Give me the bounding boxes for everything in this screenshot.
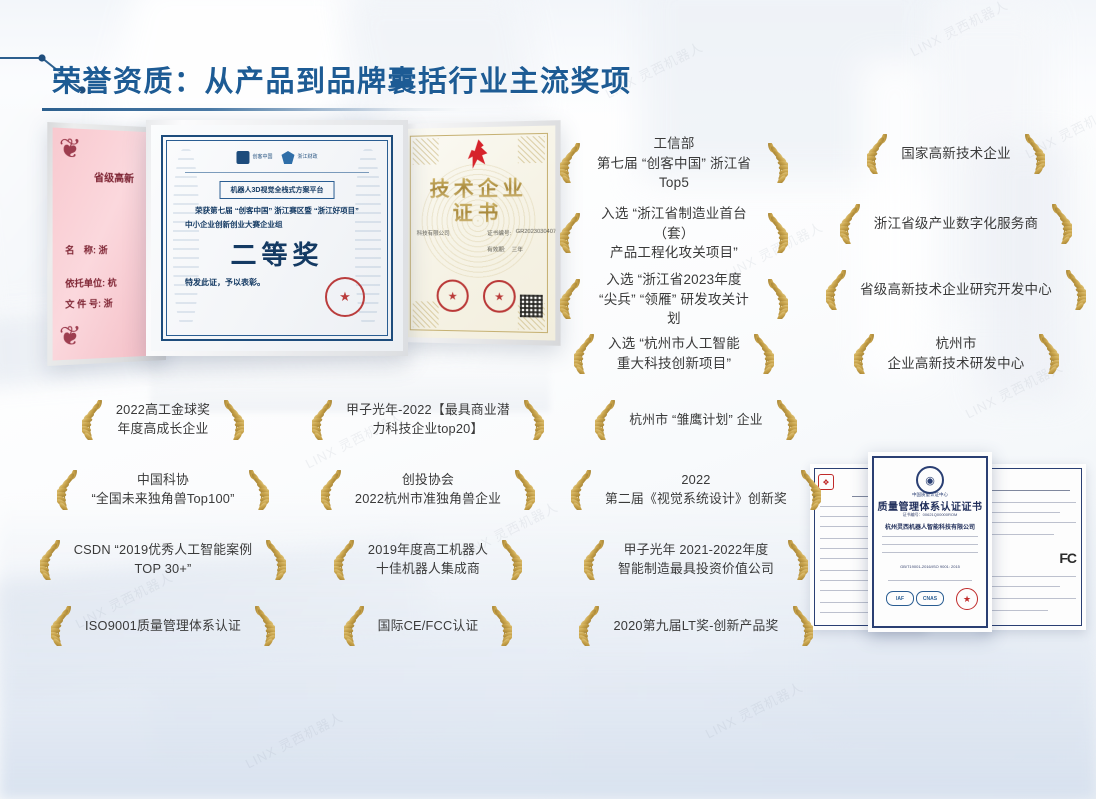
blue-cert-logo-2: 浙江财政 — [298, 155, 318, 161]
laurel-wreath-icon — [321, 470, 347, 510]
page-header: 荣誉资质：从产品到品牌囊括行业主流奖项 — [0, 22, 700, 100]
award-label: 2020第九届LT奖-创新产品奖 — [605, 617, 786, 636]
award-badge: 2022 第二届《视觉系统设计》创新奖 — [562, 470, 830, 510]
award-badge: 杭州市 “雏鹰计划” 企业 — [562, 400, 830, 440]
award-badge: 入选 “浙江省制造业首台（套） 产品工程化攻关项目” — [560, 204, 788, 263]
laurel-wreath-icon — [574, 334, 600, 374]
award-label: 国际CE/FCC认证 — [370, 617, 487, 636]
laurel-wreath-icon — [771, 400, 797, 440]
award-badge: 入选 “杭州市人工智能 重大科技创新项目” — [560, 334, 788, 374]
award-label: 国家高新技术企业 — [893, 144, 1019, 164]
laurel-wreath-icon — [762, 213, 788, 253]
award-label: 甲子光年 2021-2022年度 智能制造最具投资价值公司 — [610, 541, 782, 578]
pink-plaque-line-2: 依托单位: 杭 — [65, 276, 117, 290]
laurel-wreath-icon — [334, 540, 360, 580]
award-label: 杭州市 企业高新技术研发中心 — [880, 334, 1033, 373]
award-badge: 创投协会 2022杭州市准独角兽企业 — [294, 470, 562, 510]
laurel-wreath-icon — [243, 470, 269, 510]
laurel-wreath-icon — [795, 470, 821, 510]
laurel-wreath-icon — [787, 606, 813, 646]
laurel-wreath-icon — [518, 400, 544, 440]
certificate-award-blue: 创客中国 浙江财政 机器人3D视觉全栈式方案平台 荣获第七届 “创客中国” 浙江… — [146, 120, 408, 356]
gold-cert-no-value: GR202303040794 — [516, 229, 556, 235]
certificate-tech-enterprise-gold: 技术企业 证书 科技有限公司 证书编号: GR202303040794 有效期:… — [398, 120, 561, 346]
laurel-wreath-icon — [867, 134, 893, 174]
watermark: LINX 灵西机器人 — [242, 707, 346, 773]
laurel-wreath-icon — [40, 540, 66, 580]
award-label: 2022 第二届《视觉系统设计》创新奖 — [597, 471, 795, 508]
blue-cert-line-2: 中小企业创新创业大赛企业组 — [185, 219, 283, 230]
gold-cert-no-label: 证书编号: — [487, 229, 511, 237]
laurel-wreath-icon — [762, 143, 788, 183]
laurel-wreath-icon — [1046, 204, 1072, 244]
laurel-wreath-icon — [560, 279, 586, 319]
laurel-wreath-icon — [51, 606, 77, 646]
award-label: 浙江省级产业数字化服务商 — [866, 214, 1046, 234]
award-badge: 入选 “浙江省2023年度 “尖兵” “领雁” 研发攻关计划 — [560, 270, 788, 329]
laurel-wreath-icon — [1060, 270, 1086, 310]
gold-cert-validity-label: 有效期: — [487, 245, 505, 253]
laurel-wreath-icon — [782, 540, 808, 580]
award-badge: 浙江省级产业数字化服务商 — [822, 204, 1090, 244]
award-label: 入选 “杭州市人工智能 重大科技创新项目” — [600, 334, 748, 373]
laurel-wreath-icon — [496, 540, 522, 580]
laurel-wreath-icon — [840, 204, 866, 244]
award-label: CSDN “2019优秀人工智能案例 TOP 30+” — [66, 541, 261, 578]
award-label: 杭州市 “雏鹰计划” 企业 — [621, 411, 770, 430]
award-badge: 2020第九届LT奖-创新产品奖 — [562, 606, 830, 646]
red-official-seal-icon: ★ — [325, 277, 365, 317]
red-seal-left-icon: ★ — [437, 279, 469, 312]
award-badge: 国际CE/FCC认证 — [294, 606, 562, 646]
laurel-wreath-icon — [486, 606, 512, 646]
laurel-wreath-icon — [560, 143, 586, 183]
laurel-wreath-icon — [762, 279, 788, 319]
award-badge: 杭州市 企业高新技术研发中心 — [822, 334, 1090, 374]
page-title: 荣誉资质：从产品到品牌囊括行业主流奖项 — [52, 58, 632, 100]
awards-grid-bottom: 2022高工金球奖 年度高成长企业甲子光年-2022【最具商业潜 力科技企业to… — [12, 392, 1092, 654]
laurel-wreath-icon — [595, 400, 621, 440]
blue-cert-line-1: 荣获第七届 “创客中国” 浙江赛区暨 “浙江好项目” — [195, 205, 359, 216]
laurel-wreath-icon — [826, 270, 852, 310]
gold-cert-title-2: 证书 — [453, 196, 504, 226]
laurel-wreath-icon — [584, 540, 610, 580]
award-label: 入选 “浙江省制造业首台（套） 产品工程化攻关项目” — [586, 204, 762, 263]
red-seal-right-icon: ★ — [483, 280, 516, 313]
laurel-wreath-icon — [57, 470, 83, 510]
watermark: LINX 灵西机器人 — [907, 0, 1011, 60]
gold-cert-validity-value: 三年 — [512, 245, 523, 253]
slide-canvas: LINX 灵西机器人 LINX 灵西机器人 LINX 灵西机器人 LINX 灵西… — [0, 0, 1096, 799]
qr-code-icon — [520, 295, 543, 318]
award-badge: 省级高新技术企业研究开发中心 — [822, 270, 1090, 310]
award-badge: 中国科协 “全国未来独角兽Top100” — [32, 470, 294, 510]
award-badge: 甲子光年 2021-2022年度 智能制造最具投资价值公司 — [562, 540, 830, 580]
laurel-wreath-icon — [854, 334, 880, 374]
laurel-wreath-icon — [1033, 334, 1059, 374]
award-badge: 2019年度高工机器人 十佳机器人集成商 — [294, 540, 562, 580]
pink-plaque-line-3: 文 件 号: 浙 — [65, 296, 113, 311]
laurel-wreath-icon — [249, 606, 275, 646]
blue-cert-note: 特发此证，予以表彰。 — [185, 277, 265, 288]
laurel-wreath-icon — [312, 400, 338, 440]
gold-cert-company: 科技有限公司 — [417, 229, 450, 237]
laurel-wreath-icon — [1019, 134, 1045, 174]
award-badge: 工信部 第七届 “创客中国” 浙江省Top5 — [560, 134, 788, 193]
laurel-wreath-icon — [571, 470, 597, 510]
blue-cert-prize: 二等奖 — [230, 235, 323, 272]
pink-plaque-line-1: 名 称: 浙 — [65, 243, 107, 257]
award-badge: 国家高新技术企业 — [822, 134, 1090, 174]
blue-cert-project: 机器人3D视觉全栈式方案平台 — [220, 181, 335, 199]
laurel-wreath-icon — [579, 606, 605, 646]
award-label: 省级高新技术企业研究开发中心 — [852, 280, 1060, 300]
award-label: 2022高工金球奖 年度高成长企业 — [108, 401, 218, 438]
blue-cert-logos: 创客中国 浙江财政 — [236, 151, 317, 164]
award-badge: 甲子光年-2022【最具商业潜 力科技企业top20】 — [294, 400, 562, 440]
award-label: ISO9001质量管理体系认证 — [77, 617, 249, 636]
award-label: 甲子光年-2022【最具商业潜 力科技企业top20】 — [338, 401, 518, 438]
laurel-wreath-icon — [509, 470, 535, 510]
laurel-wreath-icon — [748, 334, 774, 374]
blue-cert-logo-1: 创客中国 — [252, 155, 272, 161]
watermark: LINX 灵西机器人 — [702, 677, 806, 743]
awards-grid-top: 工信部 第七届 “创客中国” 浙江省Top5国家高新技术企业入选 “浙江省制造业… — [560, 118, 1090, 380]
award-badge: CSDN “2019优秀人工智能案例 TOP 30+” — [32, 540, 294, 580]
pink-plaque-title: 省级高新 — [94, 169, 134, 185]
award-label: 工信部 第七届 “创客中国” 浙江省Top5 — [586, 134, 762, 193]
laurel-wreath-icon — [82, 400, 108, 440]
award-label: 入选 “浙江省2023年度 “尖兵” “领雁” 研发攻关计划 — [586, 270, 762, 329]
award-badge: 2022高工金球奖 年度高成长企业 — [32, 400, 294, 440]
award-label: 创投协会 2022杭州市准独角兽企业 — [347, 471, 509, 508]
title-underline — [42, 108, 462, 111]
award-label: 中国科协 “全国未来独角兽Top100” — [83, 471, 242, 508]
award-badge: ISO9001质量管理体系认证 — [32, 606, 294, 646]
laurel-wreath-icon — [218, 400, 244, 440]
laurel-wreath-icon — [344, 606, 370, 646]
laurel-wreath-icon — [560, 213, 586, 253]
award-label: 2019年度高工机器人 十佳机器人集成商 — [360, 541, 496, 578]
laurel-wreath-icon — [260, 540, 286, 580]
